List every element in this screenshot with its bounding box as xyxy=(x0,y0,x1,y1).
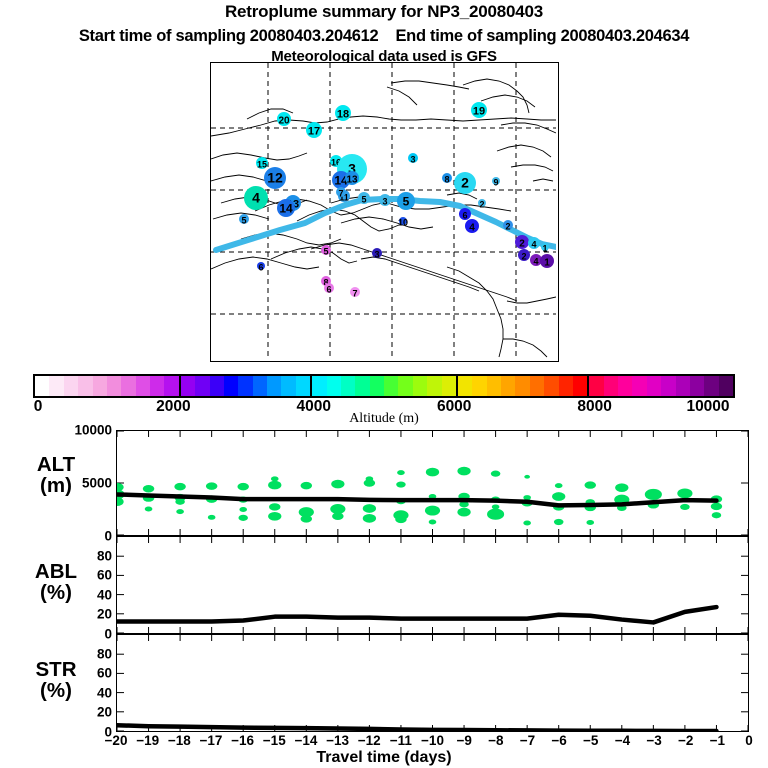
map-cluster-marker[interactable]: 15 xyxy=(256,157,268,170)
x-tick-label: −14 xyxy=(294,733,317,748)
alt-data-point xyxy=(457,467,470,476)
colorbar-segment xyxy=(296,376,310,396)
map-cluster-marker[interactable]: 7 xyxy=(350,287,360,299)
map-cluster-marker[interactable]: 13 xyxy=(345,171,359,186)
map-cluster-marker[interactable]: 6 xyxy=(324,283,334,295)
cluster-label: 18 xyxy=(337,109,349,121)
y-tick-label: 40 xyxy=(97,685,112,700)
cluster-label: 4 xyxy=(252,190,260,206)
cluster-label: 7 xyxy=(352,289,357,299)
x-tick-label: −5 xyxy=(583,733,598,748)
alt-data-point xyxy=(645,489,662,500)
cluster-label: 5 xyxy=(361,195,366,205)
x-tick-label: −13 xyxy=(326,733,349,748)
panel-ticks xyxy=(117,635,748,731)
map-cluster-marker[interactable]: 6 xyxy=(257,262,265,273)
x-tick-label: −12 xyxy=(358,733,381,748)
cluster-label: 2 xyxy=(461,175,469,191)
abl-y-tick-labels: 020406080 xyxy=(42,536,112,634)
alt-data-point xyxy=(363,504,376,513)
map-cluster-marker[interactable]: 2 xyxy=(454,172,476,194)
cluster-label: 7 xyxy=(338,189,343,199)
map-cluster-marker[interactable]: 5 xyxy=(239,214,249,226)
colorbar-segment xyxy=(181,376,195,396)
cluster-label: 3 xyxy=(410,155,415,165)
y-tick-label: 60 xyxy=(97,568,112,583)
map-cluster-marker[interactable]: 10 xyxy=(398,217,408,228)
map-cluster-marker[interactable]: 4 xyxy=(465,219,479,234)
alt-data-point xyxy=(208,515,216,520)
x-tick-label: −1 xyxy=(710,733,725,748)
colorbar-segment xyxy=(676,376,690,396)
alt-data-point xyxy=(523,521,531,526)
alt-data-point xyxy=(615,483,628,492)
alt-data-point xyxy=(364,479,375,486)
colorbar-segment xyxy=(224,376,238,396)
colorbar-segment xyxy=(121,376,135,396)
cluster-label: 2 xyxy=(479,200,484,210)
alt-data-point xyxy=(552,492,565,501)
x-tick-label: −9 xyxy=(456,733,471,748)
cluster-label: 6 xyxy=(258,263,263,273)
alt-data-point xyxy=(176,509,184,514)
alt-data-point xyxy=(555,483,563,488)
colorbar-segment xyxy=(589,376,603,396)
cluster-label: 14 xyxy=(279,202,293,216)
colorbar-segment xyxy=(312,376,326,396)
x-tick-label: −4 xyxy=(615,733,630,748)
alt-data-point xyxy=(238,483,249,490)
cluster-label: 5 xyxy=(323,247,328,257)
cluster-label: 1 xyxy=(544,258,550,269)
alt-data-point xyxy=(425,506,440,516)
map-cluster-marker[interactable]: 4 xyxy=(528,237,540,250)
cluster-label: 19 xyxy=(473,106,485,118)
alt-y-tick-labels: 0500010000 xyxy=(42,430,112,536)
x-tick-label: −16 xyxy=(231,733,254,748)
colorbar-segment xyxy=(647,376,661,396)
x-tick-label: −11 xyxy=(390,733,412,748)
cluster-label: 6 xyxy=(326,285,331,295)
cluster-label: 2 xyxy=(521,252,526,262)
colorbar-segment xyxy=(281,376,295,396)
alt-data-point xyxy=(677,488,692,498)
colorbar-segment xyxy=(618,376,632,396)
colorbar-segment xyxy=(238,376,252,396)
alt-data-point xyxy=(143,485,154,492)
colorbar-segment xyxy=(150,376,164,396)
x-axis-title: Travel time (days) xyxy=(0,749,768,767)
alt-data-point xyxy=(330,504,345,514)
alt-data-point xyxy=(269,503,280,510)
alt-data-point xyxy=(363,514,376,523)
map-cluster-marker[interactable]: 3 xyxy=(372,248,382,260)
alt-data-point xyxy=(331,480,344,489)
colorbar-segment xyxy=(632,376,646,396)
colorbar-segment xyxy=(413,376,427,396)
alt-data-point xyxy=(487,509,504,520)
map-cluster-marker[interactable]: 20 xyxy=(277,112,291,127)
map-cluster-marker[interactable]: 14 xyxy=(277,199,295,217)
alt-data-point xyxy=(491,471,501,477)
alt-data-point xyxy=(268,481,281,490)
map-cluster-marker[interactable]: 3 xyxy=(379,194,391,207)
x-tick-label: −17 xyxy=(199,733,222,748)
alt-data-point xyxy=(238,515,248,521)
colorbar-segment xyxy=(327,376,341,396)
map-cluster-marker[interactable]: 2 xyxy=(515,235,529,250)
x-tick-label: −19 xyxy=(136,733,159,748)
alt-data-point xyxy=(680,504,690,510)
colorbar-segment xyxy=(253,376,267,396)
colorbar-segment xyxy=(64,376,78,396)
colorbar-segment xyxy=(341,376,355,396)
cluster-label: 3 xyxy=(382,197,387,207)
map-cluster-marker[interactable]: 3 xyxy=(408,153,418,165)
map-cluster-marker[interactable]: 9 xyxy=(492,177,500,188)
colorbar-segment xyxy=(427,376,441,396)
colorbar-segment xyxy=(530,376,544,396)
alt-data-point xyxy=(332,513,343,520)
cluster-label: 2 xyxy=(505,222,510,232)
map-cluster-marker[interactable]: 1 xyxy=(540,254,554,269)
x-tick-label: −3 xyxy=(646,733,661,748)
alt-data-point xyxy=(426,468,439,477)
cluster-label: 3 xyxy=(374,250,379,260)
cluster-label: 8 xyxy=(444,175,449,185)
colorbar-segment xyxy=(487,376,501,396)
colorbar-segment xyxy=(370,376,384,396)
colorbar-segment xyxy=(78,376,92,396)
y-tick-label: 20 xyxy=(97,607,112,622)
colorbar-segment xyxy=(501,376,515,396)
alt-data-point xyxy=(206,482,217,489)
cluster-label: 12 xyxy=(267,170,283,186)
cluster-label: 6 xyxy=(462,211,467,221)
colorbar-segment xyxy=(704,376,718,396)
x-tick-label: 0 xyxy=(745,733,753,748)
alt-data-point xyxy=(396,481,406,487)
alt-data-point xyxy=(395,516,406,523)
map-graticule xyxy=(211,63,556,359)
cluster-label: 5 xyxy=(403,195,410,209)
y-tick-label: 20 xyxy=(97,705,112,720)
y-tick-label: 60 xyxy=(97,666,112,681)
cluster-label: 4 xyxy=(533,257,538,267)
map-cluster-marker[interactable]: 2 xyxy=(478,199,486,210)
colorbar-segment xyxy=(690,376,704,396)
x-tick-label: −20 xyxy=(105,733,128,748)
alt-data-point xyxy=(397,470,405,475)
str-y-tick-labels: 020406080 xyxy=(42,634,112,732)
alt-data-point xyxy=(524,475,530,479)
colorbar-segment xyxy=(544,376,558,396)
alt-data-point xyxy=(271,476,279,481)
x-tick-label: −18 xyxy=(168,733,191,748)
alt-data-point xyxy=(117,497,124,506)
colorbar-segment xyxy=(661,376,675,396)
map-cluster-marker[interactable]: 8 xyxy=(442,173,452,185)
colorbar-segment xyxy=(164,376,178,396)
map-cluster-marker[interactable]: 6 xyxy=(459,208,471,221)
colorbar-segment xyxy=(93,376,107,396)
colorbar-segment xyxy=(458,376,472,396)
cluster-label: 2 xyxy=(519,239,525,250)
colorbar-segment xyxy=(515,376,529,396)
colorbar-segment xyxy=(384,376,398,396)
y-tick-label: 40 xyxy=(97,587,112,602)
y-tick-label: 10000 xyxy=(74,423,112,438)
alt-data-point xyxy=(301,515,312,522)
alt-data-point xyxy=(429,520,437,525)
x-tick-label: −6 xyxy=(551,733,566,748)
colorbar-segment xyxy=(559,376,573,396)
cluster-label: 4 xyxy=(531,240,536,250)
cluster-label: 15 xyxy=(257,160,267,170)
alt-data-point xyxy=(145,507,153,512)
colorbar-segment xyxy=(573,376,587,396)
map-cluster-marker[interactable]: 2 xyxy=(518,249,530,262)
alt-data-point xyxy=(554,519,564,525)
x-tick-label: −10 xyxy=(421,733,444,748)
colorbar-segment xyxy=(398,376,412,396)
abl-chart[interactable] xyxy=(116,536,749,634)
y-tick-label: 80 xyxy=(97,548,112,563)
x-tick-label: −2 xyxy=(678,733,693,748)
colorbar-segment xyxy=(355,376,369,396)
map-cluster-marker[interactable]: 18 xyxy=(335,105,351,121)
alt-data-point xyxy=(711,503,722,510)
x-tick-label: −15 xyxy=(263,733,286,748)
colorbar-axis-title: Altitude (m) xyxy=(0,411,768,427)
abl-line xyxy=(117,607,716,622)
retroplume-map[interactable]: 2018191715163312414138291314117535521064… xyxy=(210,62,559,362)
str-line xyxy=(117,725,716,731)
map-cluster-marker[interactable]: 12 xyxy=(264,167,286,189)
cluster-label: 10 xyxy=(398,218,408,228)
alt-data-point xyxy=(585,481,596,488)
alt-data-point xyxy=(586,520,594,525)
colorbar-segment xyxy=(267,376,281,396)
colorbar-segment xyxy=(49,376,63,396)
map-cluster-marker[interactable]: 17 xyxy=(306,122,322,138)
colorbar-segment xyxy=(136,376,150,396)
map-coastlines xyxy=(211,79,556,357)
y-tick-label: 5000 xyxy=(82,476,112,491)
x-tick-label: −8 xyxy=(488,733,503,748)
alt-data-point xyxy=(174,483,185,490)
alt-data-point xyxy=(457,508,470,517)
colorbar-segment xyxy=(107,376,121,396)
colorbar-segment xyxy=(472,376,486,396)
alt-data-point xyxy=(301,482,312,489)
sampling-time-range: Start time of sampling 20080403.204612 E… xyxy=(0,27,768,46)
colorbar-segment xyxy=(719,376,733,396)
x-tick-label: −7 xyxy=(520,733,535,748)
cluster-label: 5 xyxy=(241,216,246,226)
colorbar-segment xyxy=(210,376,224,396)
cluster-label: 20 xyxy=(278,116,290,127)
colorbar-segment xyxy=(195,376,209,396)
str-chart[interactable] xyxy=(116,634,749,732)
cluster-label: 13 xyxy=(346,175,358,186)
alt-data-point xyxy=(268,512,281,521)
map-cluster-marker[interactable]: 4 xyxy=(244,186,268,210)
alt-data-point xyxy=(239,507,247,512)
altitude-colorbar xyxy=(33,374,735,398)
map-cluster-marker[interactable]: 5 xyxy=(397,192,415,210)
cluster-label: 1 xyxy=(542,244,547,254)
y-tick-label: 80 xyxy=(97,646,112,661)
map-cluster-marker[interactable]: 19 xyxy=(471,102,487,118)
colorbar-segment xyxy=(35,376,49,396)
cluster-label: 4 xyxy=(469,223,475,234)
colorbar-segment xyxy=(604,376,618,396)
cluster-label: 9 xyxy=(493,178,498,188)
colorbar-segment xyxy=(442,376,456,396)
cluster-label: 17 xyxy=(308,126,320,138)
page-title: Retroplume summary for NP3_20080403 xyxy=(0,2,768,22)
alt-chart[interactable] xyxy=(116,430,749,536)
alt-data-point xyxy=(712,512,722,518)
alt-data-point xyxy=(175,499,185,505)
